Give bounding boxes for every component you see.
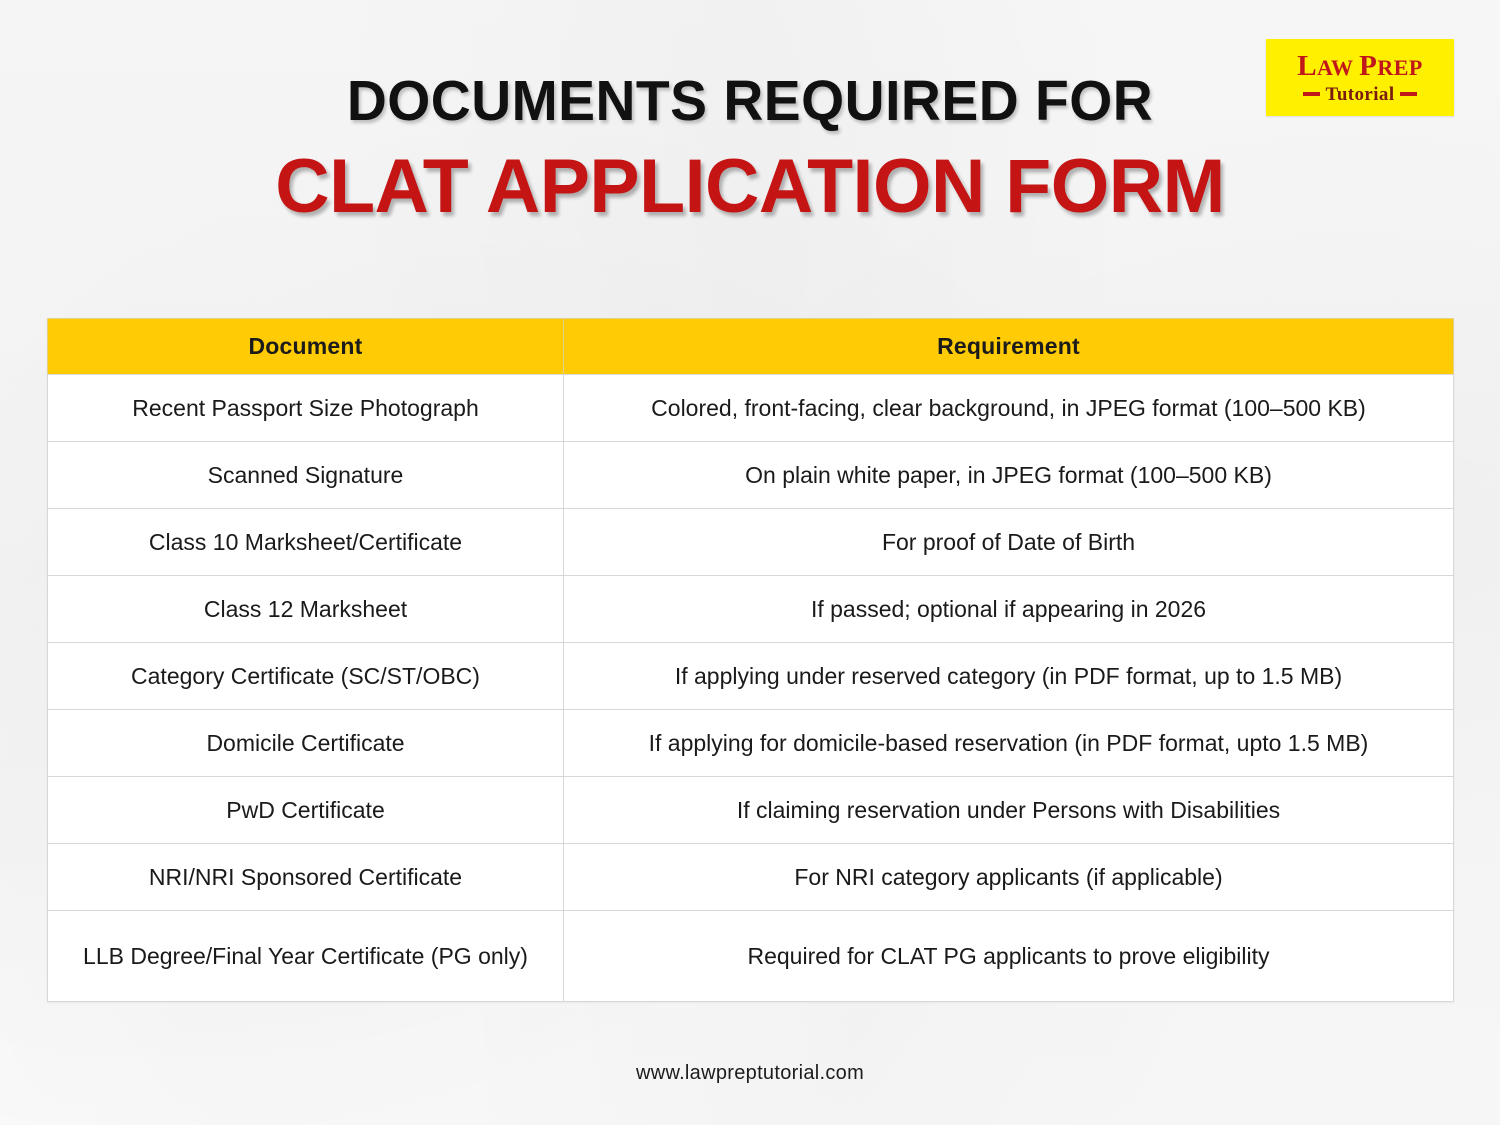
table-row: NRI/NRI Sponsored Certificate For NRI ca… [48,844,1454,911]
cell-document: PwD Certificate [48,777,564,844]
cell-requirement: Required for CLAT PG applicants to prove… [564,911,1454,1002]
cell-document: Category Certificate (SC/ST/OBC) [48,643,564,710]
cell-document: Class 12 Marksheet [48,576,564,643]
page-title: DOCUMENTS REQUIRED FOR CLAT APPLICATION … [0,72,1500,228]
cell-document: Scanned Signature [48,442,564,509]
table-header-row: Document Requirement [48,319,1454,375]
cell-requirement: For NRI category applicants (if applicab… [564,844,1454,911]
column-header-document: Document [48,319,564,375]
cell-requirement: For proof of Date of Birth [564,509,1454,576]
cell-requirement: Colored, front-facing, clear background,… [564,375,1454,442]
cell-document: Recent Passport Size Photograph [48,375,564,442]
cell-document: LLB Degree/Final Year Certificate (PG on… [48,911,564,1002]
cell-requirement: If applying for domicile-based reservati… [564,710,1454,777]
column-header-requirement: Requirement [564,319,1454,375]
cell-requirement: On plain white paper, in JPEG format (10… [564,442,1454,509]
table-header: Document Requirement [48,319,1454,375]
footer-website[interactable]: www.lawpreptutorial.com [0,1062,1500,1085]
table-row: Class 10 Marksheet/Certificate For proof… [48,509,1454,576]
table-row: Scanned Signature On plain white paper, … [48,442,1454,509]
table-body: Recent Passport Size Photograph Colored,… [48,375,1454,1002]
cell-requirement: If applying under reserved category (in … [564,643,1454,710]
documents-table: Document Requirement Recent Passport Siz… [47,318,1454,1002]
table-row: LLB Degree/Final Year Certificate (PG on… [48,911,1454,1002]
title-line-1: DOCUMENTS REQUIRED FOR [23,72,1478,132]
cell-requirement: If claiming reservation under Persons wi… [564,777,1454,844]
cell-document: NRI/NRI Sponsored Certificate [48,844,564,911]
cell-requirement: If passed; optional if appearing in 2026 [564,576,1454,643]
table-row: Domicile Certificate If applying for dom… [48,710,1454,777]
table-row: Recent Passport Size Photograph Colored,… [48,375,1454,442]
title-line-2: CLAT APPLICATION FORM [8,146,1493,228]
table-row: Category Certificate (SC/ST/OBC) If appl… [48,643,1454,710]
table-row: PwD Certificate If claiming reservation … [48,777,1454,844]
table-row: Class 12 Marksheet If passed; optional i… [48,576,1454,643]
cell-document: Class 10 Marksheet/Certificate [48,509,564,576]
cell-document: Domicile Certificate [48,710,564,777]
